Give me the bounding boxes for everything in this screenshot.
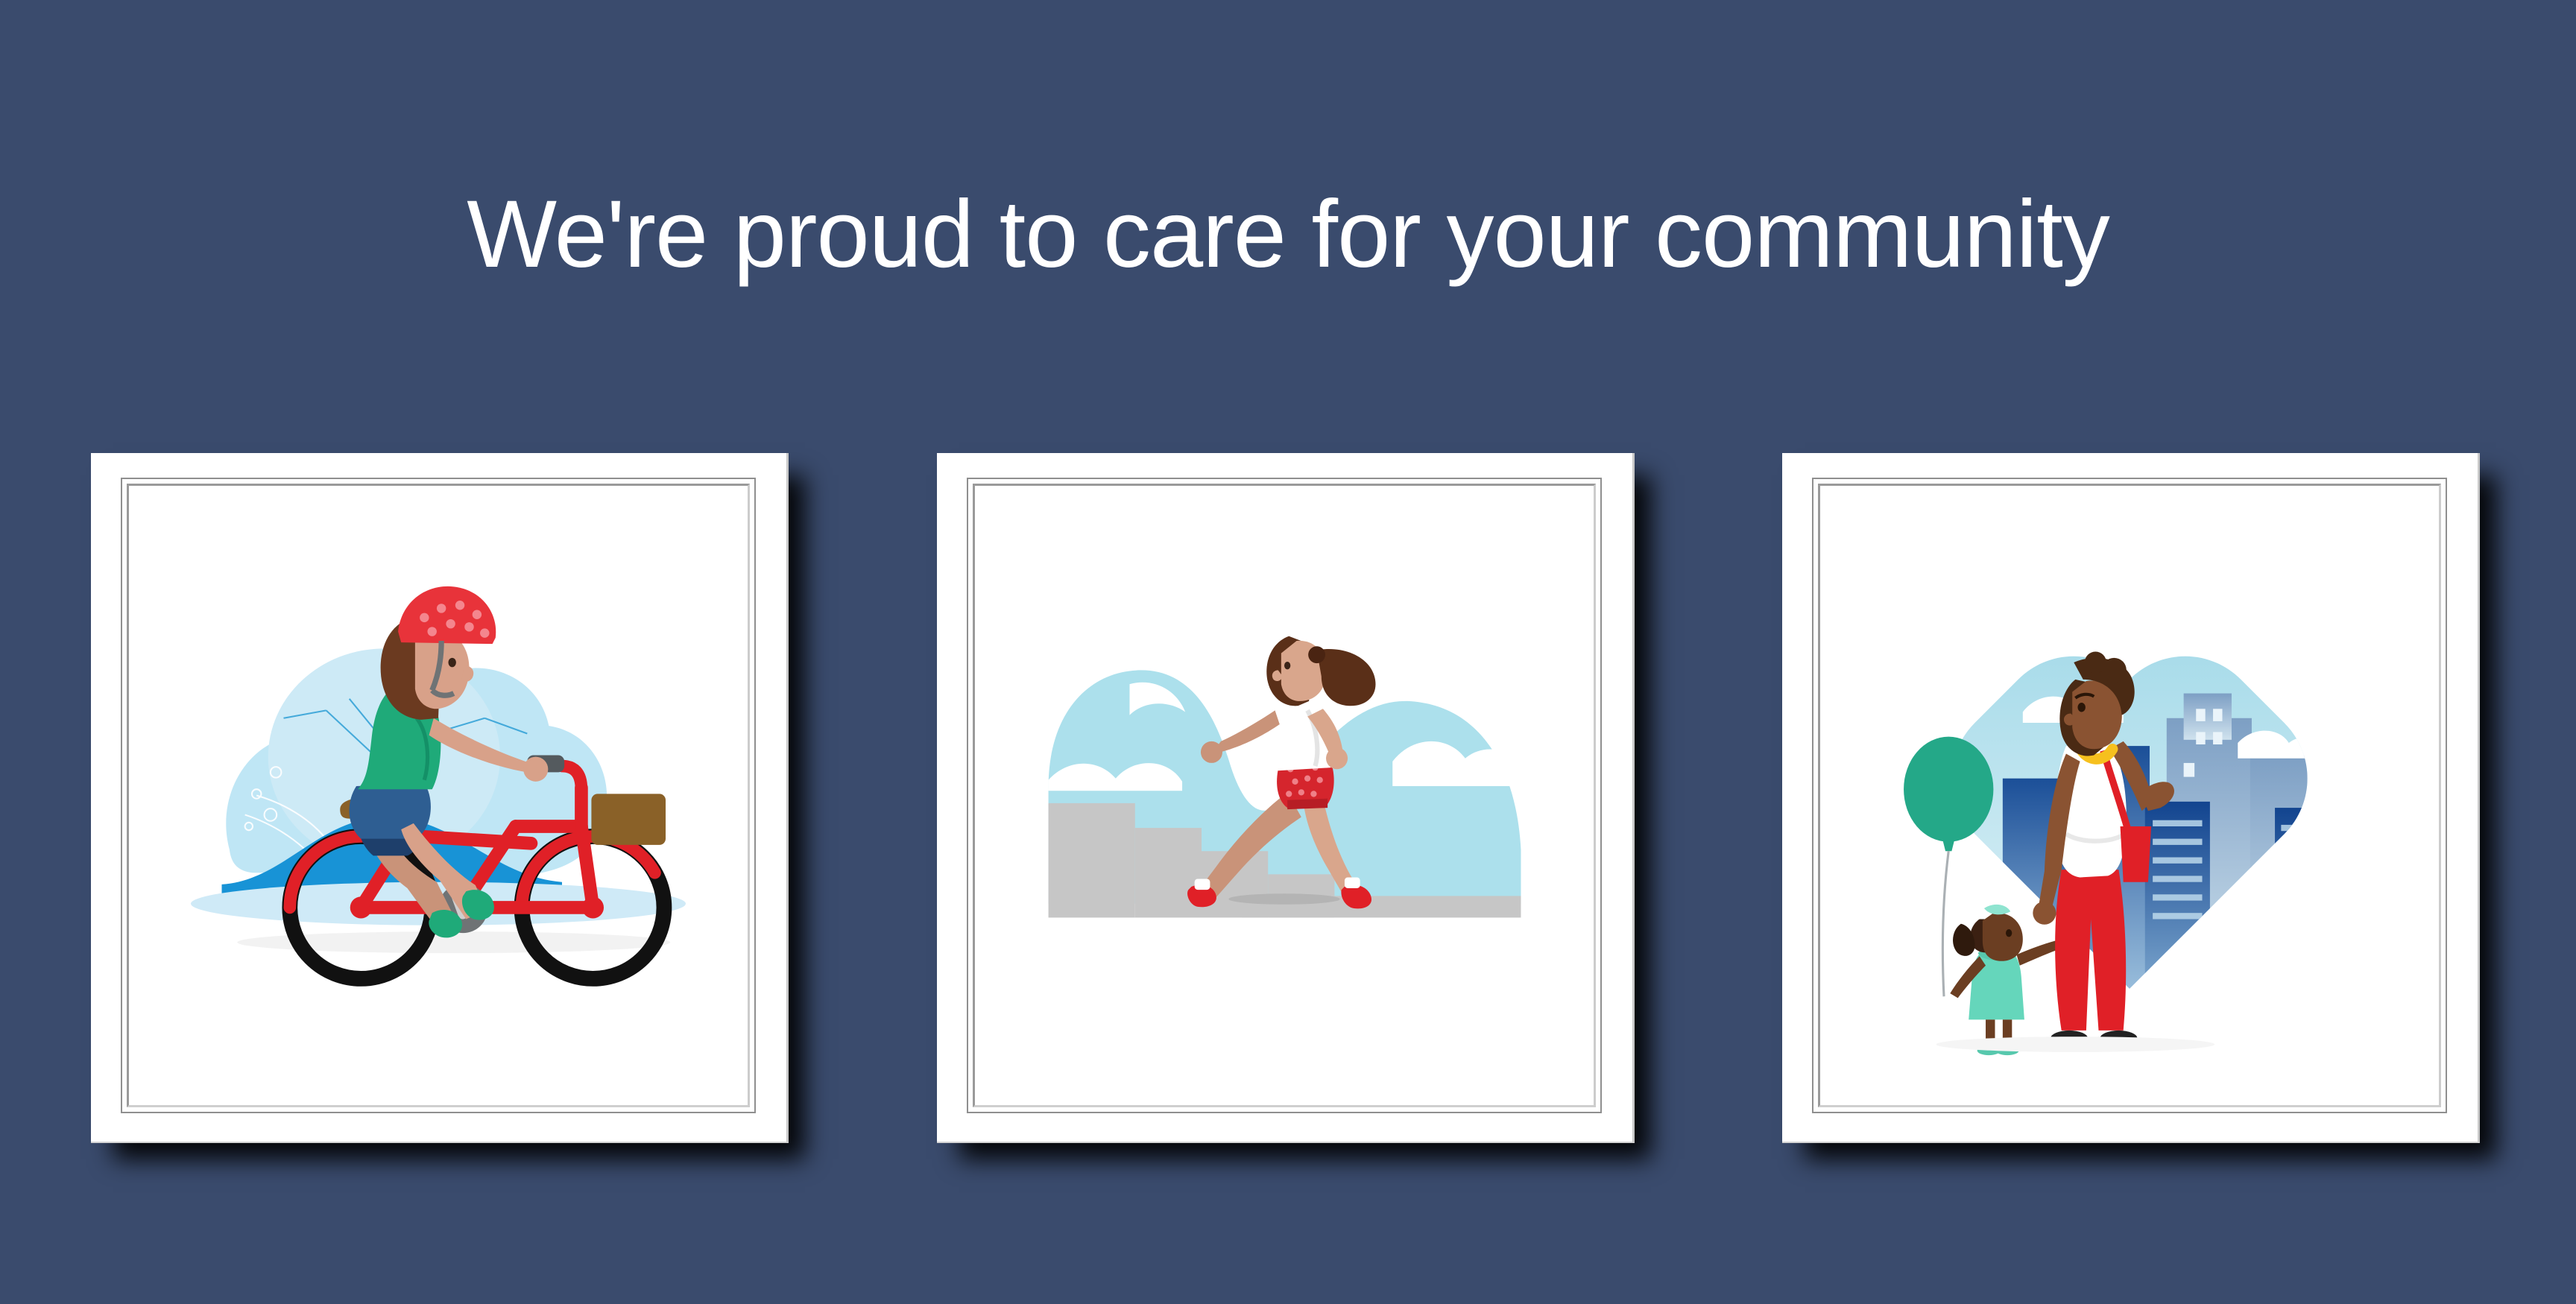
- child-figure: [1950, 905, 2056, 1055]
- frame-mat-outer: [967, 478, 1602, 1113]
- front-hand: [1326, 747, 1348, 769]
- bag-body: [2121, 826, 2152, 882]
- basket: [591, 794, 666, 844]
- ground-shadow: [1228, 893, 1339, 905]
- hair-tie: [1308, 646, 1325, 663]
- frame-mat-inner: [1818, 484, 2441, 1107]
- shorts-hem: [1287, 799, 1328, 810]
- hand-left: [2033, 902, 2056, 925]
- hair-puff-b: [2085, 652, 2106, 674]
- frame-mat-outer: [1812, 478, 2447, 1113]
- mother-and-daughter-city-illustration: [1820, 486, 2439, 1105]
- frame-mat-outer: [121, 478, 756, 1113]
- card-family-alt: Illustration of a mother and daughter wa…: [1782, 453, 1783, 454]
- child-face: [1983, 913, 2023, 961]
- tower-dark-c: [2275, 808, 2329, 996]
- child-eye: [2006, 929, 2012, 937]
- ponytail: [1317, 649, 1376, 706]
- woman-running-illustration: [975, 486, 1594, 1105]
- tower-pale-b: [2250, 756, 2311, 997]
- card-running-alt: Illustration of a woman running up stair…: [937, 453, 938, 454]
- card-running[interactable]: Illustration of a woman running up stair…: [937, 453, 1635, 1143]
- eye: [1284, 662, 1290, 669]
- front-sock: [1345, 877, 1360, 888]
- tower-pale-a-top: [2184, 694, 2232, 740]
- eye: [448, 658, 455, 667]
- balloon-knot: [1942, 839, 1955, 852]
- frame-mat-inner: [127, 484, 750, 1107]
- back-hand: [1201, 741, 1222, 763]
- woman-cycling-illustration: [129, 486, 748, 1105]
- card-cycling[interactable]: Illustration of a woman riding a red bic…: [91, 453, 789, 1143]
- balloon-string: [1942, 851, 1948, 996]
- rear-sock: [1195, 879, 1210, 890]
- pants: [2055, 870, 2126, 1031]
- card-gallery: Illustration of a woman riding a red bic…: [0, 453, 2576, 1146]
- ground-shadow: [1936, 1036, 2215, 1052]
- balloon-body: [1904, 737, 1993, 842]
- child-hair-bow: [1984, 905, 2010, 915]
- card-cycling-alt: Illustration of a woman riding a red bic…: [91, 453, 92, 454]
- frame-mat-inner: [973, 484, 1596, 1107]
- child-puff: [1953, 924, 1974, 956]
- child-arm-right: [2017, 941, 2057, 966]
- eye: [2077, 703, 2085, 712]
- page-title: We're proud to care for your community: [0, 183, 2576, 288]
- hand: [523, 757, 548, 782]
- card-family[interactable]: Illustration of a mother and daughter wa…: [1782, 453, 2480, 1143]
